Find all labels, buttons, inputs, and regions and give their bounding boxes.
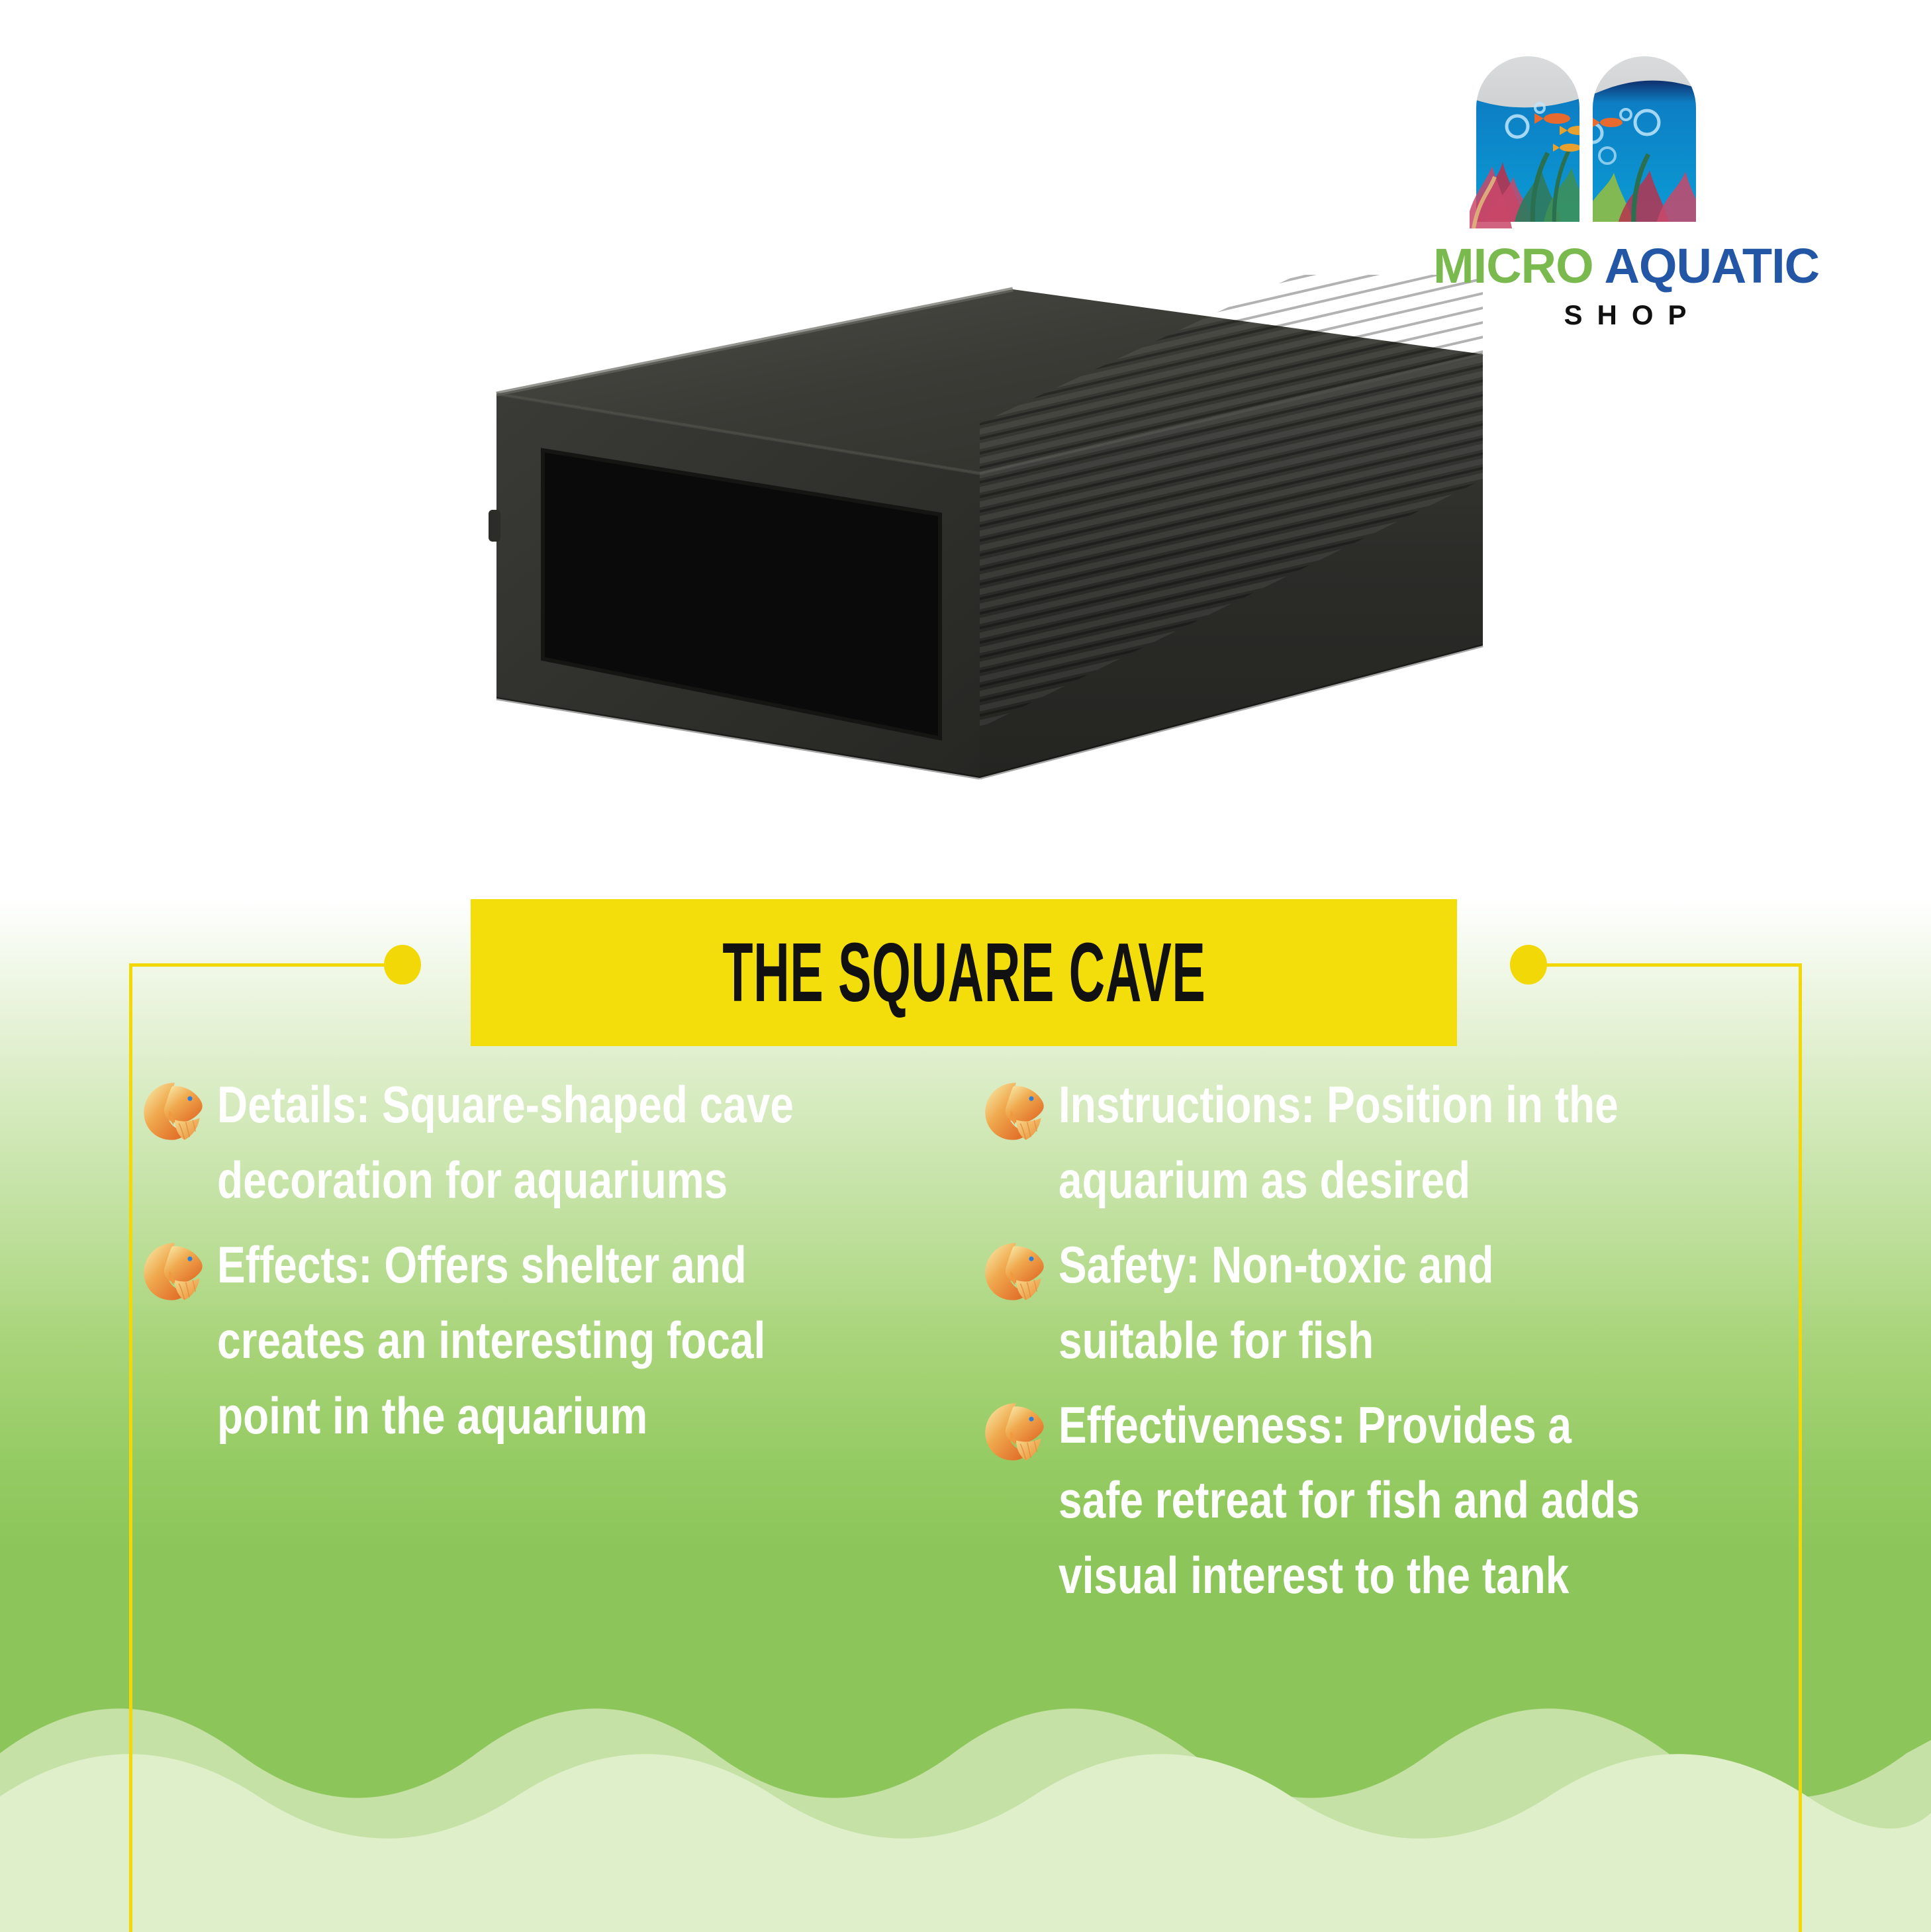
list-item: Effectiveness: Provides a safe retreat f… <box>980 1388 1793 1614</box>
logo-mark-svg <box>1470 30 1754 228</box>
feature-column-right: Instructions: Position in the aquarium a… <box>966 1067 1793 1623</box>
poster-canvas: MICRO AQUATIC SHOP THE SQUARE CAVE <box>0 0 1931 1932</box>
fish-icon <box>980 1397 1049 1466</box>
list-item-label: Safety: Non-toxic and suitable for fish <box>1059 1228 1660 1378</box>
square-cave-illustration <box>477 275 1509 824</box>
feature-columns: Details: Square-shaped cave decoration f… <box>139 1067 1792 1623</box>
logo-word-shop: SHOP <box>1433 301 1817 329</box>
fish-icon <box>139 1077 208 1145</box>
page-title: THE SQUARE CAVE <box>722 931 1205 1014</box>
list-item: Effects: Offers shelter and creates an i… <box>139 1228 946 1454</box>
wave-decoration <box>0 1654 1931 1932</box>
fish-icon <box>980 1077 1049 1145</box>
logo-wordmark: MICRO AQUATIC <box>1433 242 1817 291</box>
list-item-label: Instructions: Position in the aquarium a… <box>1059 1067 1660 1218</box>
fish-icon-svg <box>980 1077 1049 1145</box>
list-item: Safety: Non-toxic and suitable for fish <box>980 1228 1793 1378</box>
list-item-label: Effectiveness: Provides a safe retreat f… <box>1059 1388 1660 1614</box>
logo-word-aquatic: AQUATIC <box>1604 238 1819 293</box>
title-banner: THE SQUARE CAVE <box>471 899 1457 1046</box>
brand-logo: MICRO AQUATIC SHOP <box>1433 30 1817 328</box>
fish-icon <box>139 1237 208 1306</box>
logo-word-micro: MICRO <box>1433 238 1593 293</box>
list-item: Details: Square-shaped cave decoration f… <box>139 1067 946 1218</box>
fish-icon-svg <box>980 1397 1049 1466</box>
m-letter-aquarium-icon <box>1470 30 1754 228</box>
list-item-label: Details: Square-shaped cave decoration f… <box>217 1067 814 1218</box>
wave-svg <box>0 1654 1931 1932</box>
fish-icon-svg <box>980 1237 1049 1306</box>
list-item: Instructions: Position in the aquarium a… <box>980 1067 1793 1218</box>
fish-icon-svg <box>139 1077 208 1145</box>
feature-column-left: Details: Square-shaped cave decoration f… <box>139 1067 966 1623</box>
list-item-label: Effects: Offers shelter and creates an i… <box>217 1228 814 1454</box>
fish-icon <box>980 1237 1049 1306</box>
product-image <box>477 275 1509 824</box>
fish-icon-svg <box>139 1237 208 1306</box>
